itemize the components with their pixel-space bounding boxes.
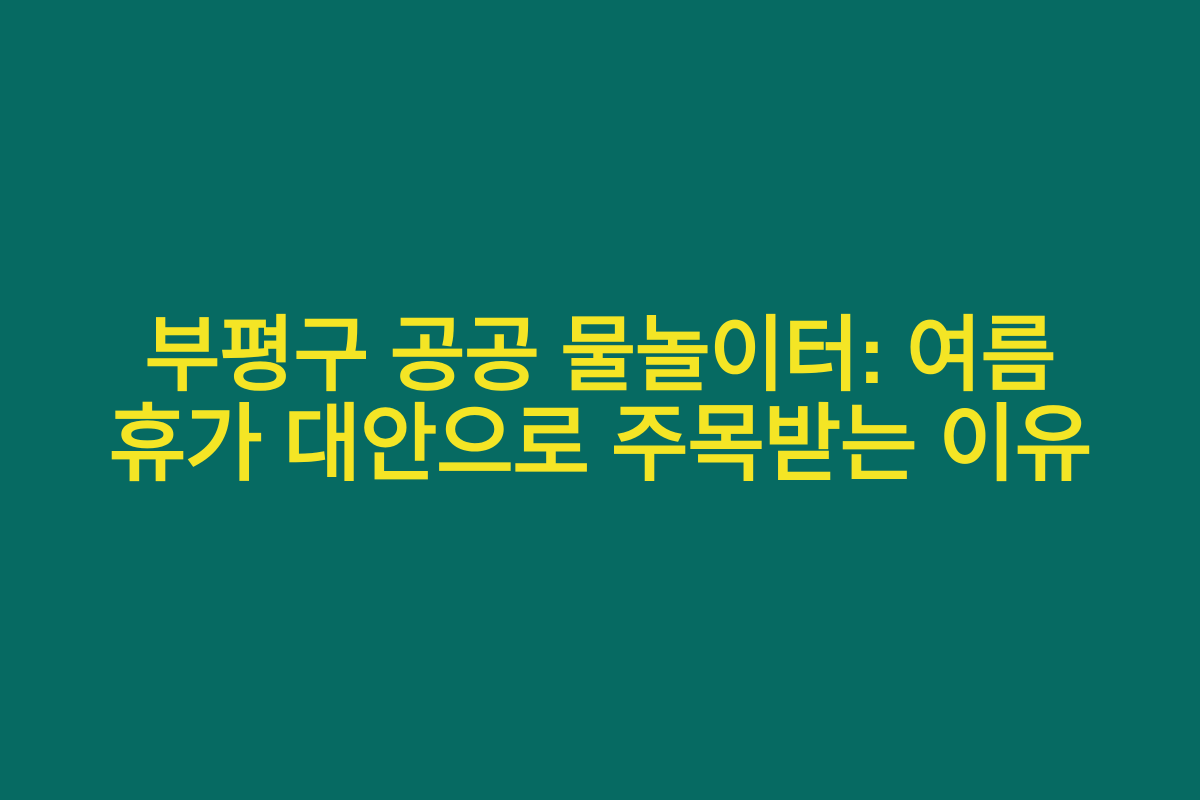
headline-block: 부평구 공공 물놀이터: 여름 휴가 대안으로 주목받는 이유 (40, 312, 1160, 488)
headline-line-2: 휴가 대안으로 주목받는 이유 (60, 400, 1140, 488)
headline-line-1: 부평구 공공 물놀이터: 여름 (60, 312, 1140, 400)
title-card: 부평구 공공 물놀이터: 여름 휴가 대안으로 주목받는 이유 (0, 0, 1200, 800)
